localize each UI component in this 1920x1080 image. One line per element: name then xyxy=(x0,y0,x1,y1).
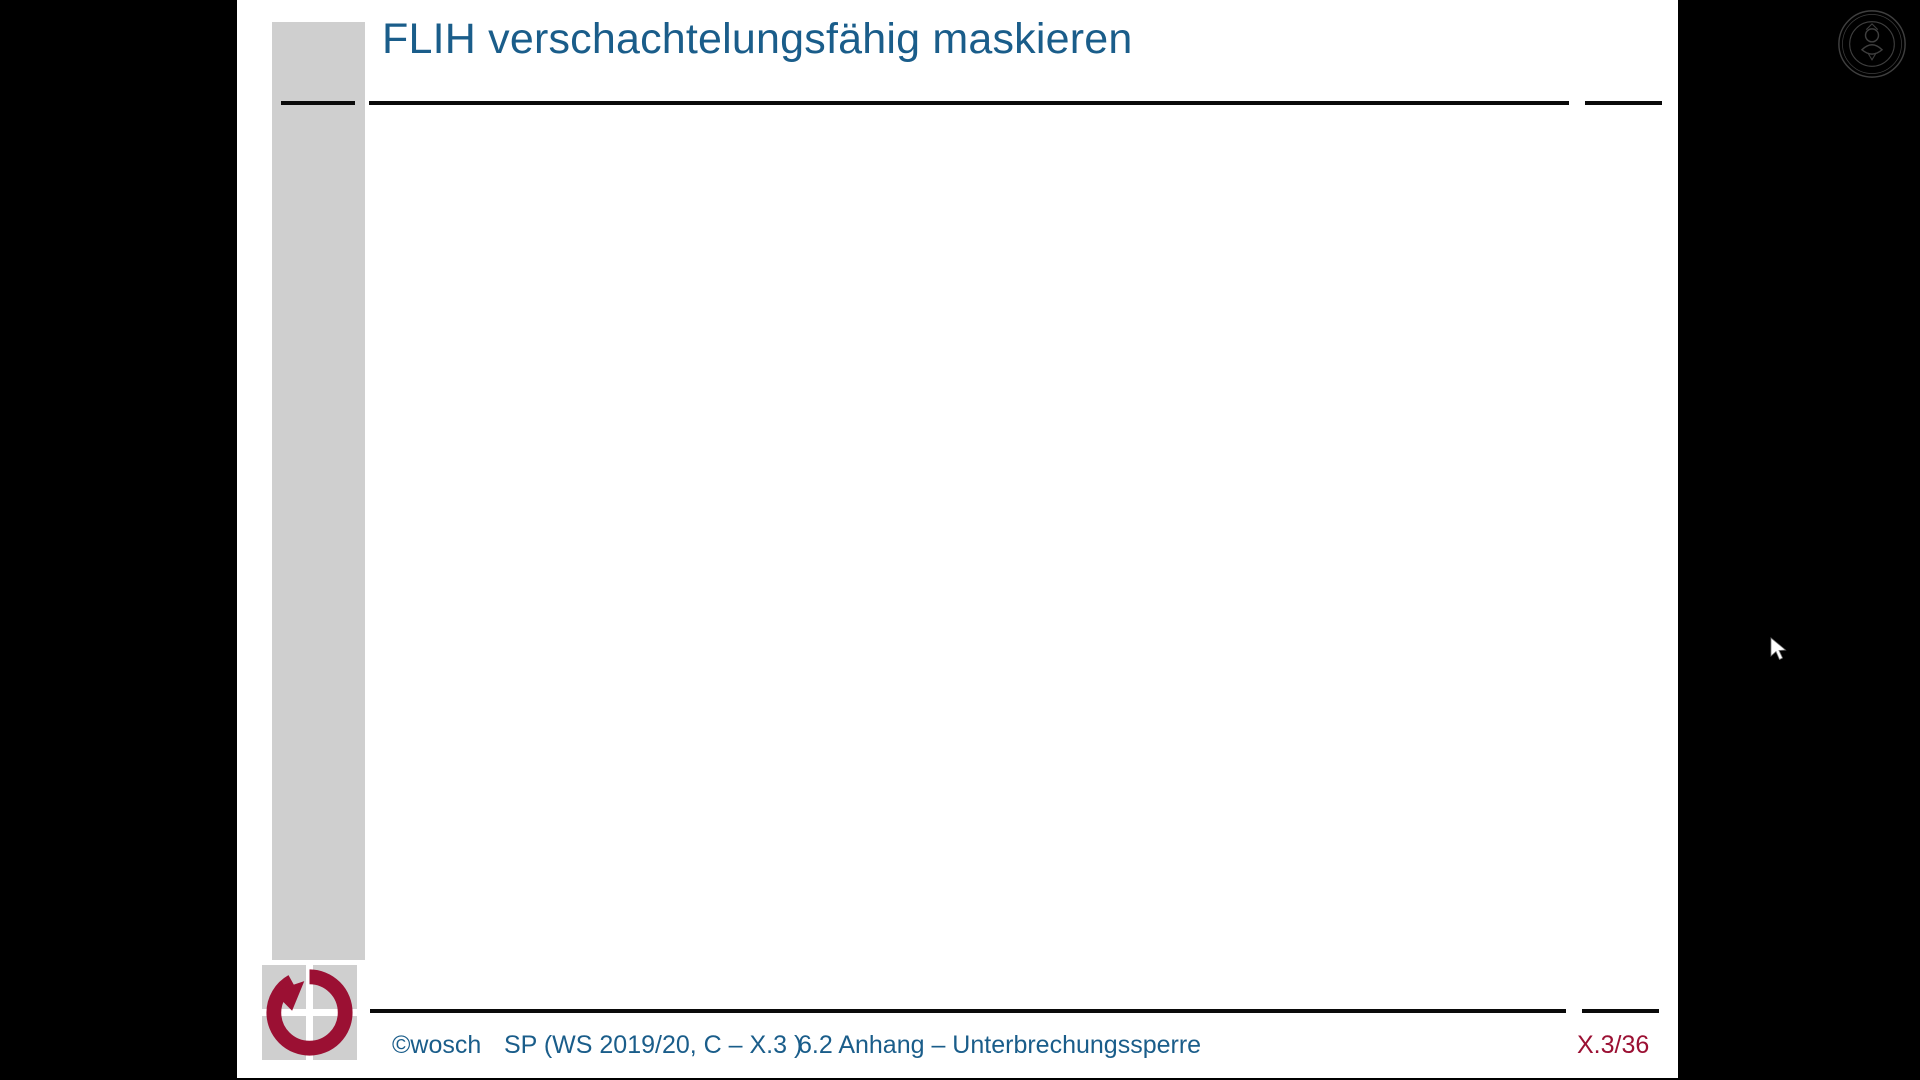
footer-course: SP (WS 2019/20, C – X.3 ) xyxy=(504,1031,802,1060)
header-rule-right xyxy=(1585,101,1662,105)
circular-arrow-icon xyxy=(266,969,353,1056)
footer-rule xyxy=(370,1009,1566,1013)
navigation-sidebar[interactable] xyxy=(272,22,365,960)
page-title: FLIH verschachtelungsfähig maskieren xyxy=(382,15,1133,64)
footer-rule-right xyxy=(1582,1009,1659,1013)
university-seal xyxy=(1836,8,1908,80)
slide-content-area xyxy=(369,120,1659,970)
footer-page-number: X.3/36 xyxy=(1577,1031,1649,1060)
footer-section: 6.2 Anhang – Unterbrechungssperre xyxy=(798,1031,1201,1060)
header-rule xyxy=(369,101,1569,105)
sidebar-rule xyxy=(281,101,355,105)
fau-informatik-logo xyxy=(262,965,357,1060)
presentation-slide: FLIH verschachtelungsfähig maskieren ©wo… xyxy=(237,0,1678,1078)
mouse-pointer xyxy=(1770,637,1790,663)
player-viewport: FLIH verschachtelungsfähig maskieren ©wo… xyxy=(0,0,1920,1080)
footer-author: ©wosch xyxy=(392,1031,481,1060)
